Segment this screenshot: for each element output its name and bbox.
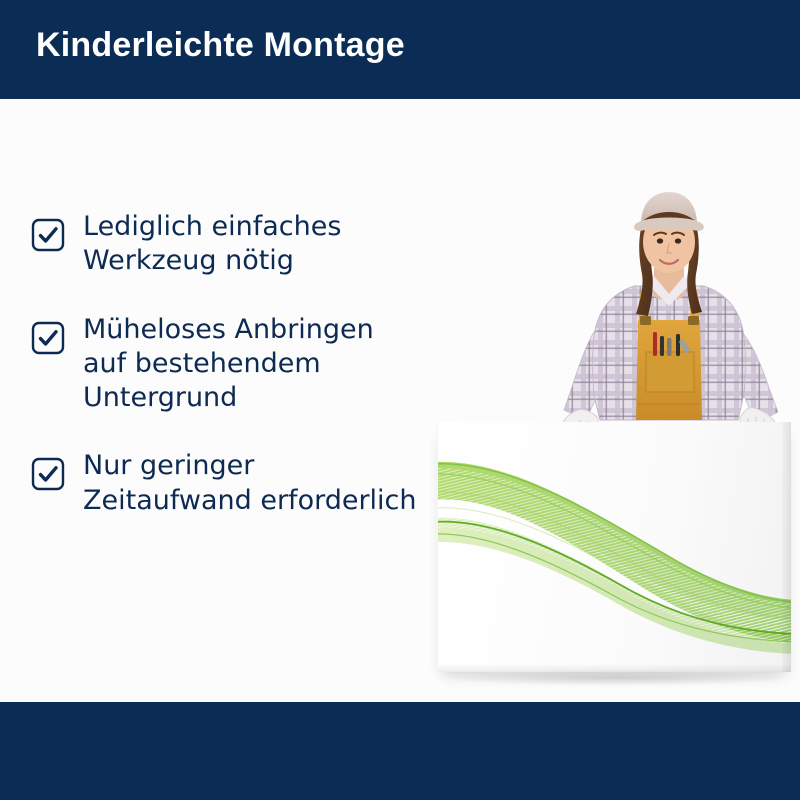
checkbox-checked-icon [31, 321, 65, 355]
page-title: Kinderleichte Montage [36, 26, 405, 65]
list-item: Müheloses Anbringen auf bestehendem Unte… [31, 313, 451, 416]
header-bar: Kinderleichte Montage [0, 0, 800, 99]
green-wave-motif [438, 422, 791, 672]
panel-drop-shadow [448, 670, 788, 686]
checkbox-checked-icon [31, 457, 65, 491]
promo-graphic: Kinderleichte Montage Lediglich einfache… [0, 0, 800, 800]
list-item-label: Müheloses Anbringen auf bestehendem Unte… [83, 313, 374, 416]
worker-person-image [542, 182, 797, 444]
list-item: Nur geringer Zeitaufwand erforderlich [31, 449, 451, 518]
list-item: Lediglich einfaches Werkzeug nötig [31, 210, 451, 279]
list-item-label: Lediglich einfaches Werkzeug nötig [83, 210, 341, 279]
footer-bar: NORILIVING [0, 702, 800, 800]
checkbox-checked-icon [31, 218, 65, 252]
panel-right-edge [782, 422, 791, 672]
feature-list: Lediglich einfaches Werkzeug nötig Mühel… [31, 210, 451, 552]
wall-panel [437, 422, 791, 672]
product-photo [430, 100, 800, 700]
list-item-label: Nur geringer Zeitaufwand erforderlich [83, 449, 417, 518]
